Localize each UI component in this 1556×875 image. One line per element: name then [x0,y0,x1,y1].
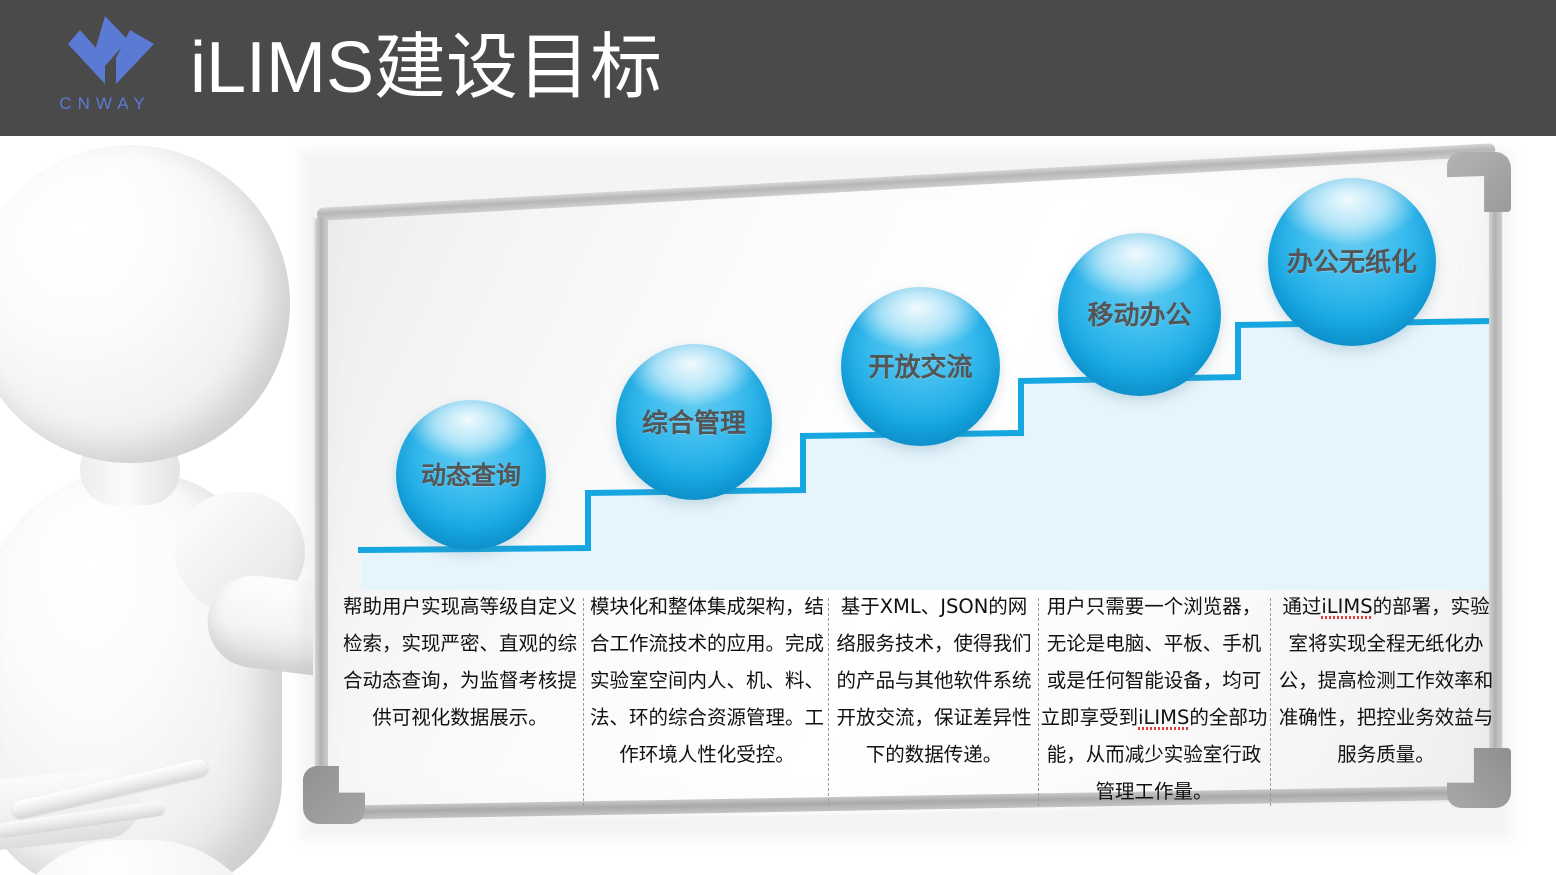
mannequin-head [0,145,290,463]
cnway-diamond-logo-icon [50,14,160,92]
logo-text: CNWAY [40,94,170,114]
column-5-suffix: 的部署，实验室将实现全程无纸化办公，提高检测工作效率和准确性，把控业务效益与服务… [1279,595,1494,766]
header-bar: CNWAY iLIMS建设目标 [0,0,1556,136]
column-divider-4 [1270,598,1271,806]
column-4-spellcheck-word: iLIMS [1138,706,1189,729]
sphere-4[interactable]: 移动办公 [1058,233,1221,396]
description-columns: 帮助用户实现高等级自定义检索，实现严密、直观的综合动态查询，为监督考核提供可视化… [340,588,1512,818]
column-5-prefix: 通过 [1282,595,1321,618]
sphere-4-label: 移动办公 [1058,295,1221,332]
slide-canvas: CNWAY iLIMS建设目标 [0,0,1556,875]
whiteboard-frame-left [315,216,328,814]
sphere-1[interactable]: 动态查询 [396,400,546,550]
sphere-5[interactable]: 办公无纸化 [1268,178,1436,346]
column-5-spellcheck-word: iLIMS [1321,595,1372,618]
column-3-text: 基于XML、JSON的网络服务技术，使得我们的产品与其他软件系统开放交流，保证差… [832,588,1036,816]
sphere-5-label: 办公无纸化 [1268,242,1436,279]
column-2-text: 模块化和整体集成架构，结合工作流技术的应用。完成实验室空间内人、机、料、法、环的… [588,588,826,816]
header-divider [0,136,1556,139]
sphere-1-label: 动态查询 [396,456,546,492]
sphere-3-label: 开放交流 [841,347,1000,384]
column-divider-3 [1038,598,1039,806]
column-divider-1 [583,598,584,806]
column-5-text: 通过iLIMS的部署，实验室将实现全程无纸化办公，提高检测工作效率和准确性，把控… [1275,588,1497,816]
column-1-text: 帮助用户实现高等级自定义检索，实现严密、直观的综合动态查询，为监督考核提供可视化… [340,588,580,816]
sphere-2[interactable]: 综合管理 [616,344,772,500]
column-divider-2 [828,598,829,806]
sphere-2-label: 综合管理 [616,403,772,440]
column-4-text: 用户只需要一个浏览器，无论是电脑、平板、手机或是任何智能设备，均可立即享受到iL… [1040,588,1268,816]
page-title: iLIMS建设目标 [190,16,662,120]
sphere-3[interactable]: 开放交流 [841,287,1000,446]
logo: CNWAY [40,12,170,124]
